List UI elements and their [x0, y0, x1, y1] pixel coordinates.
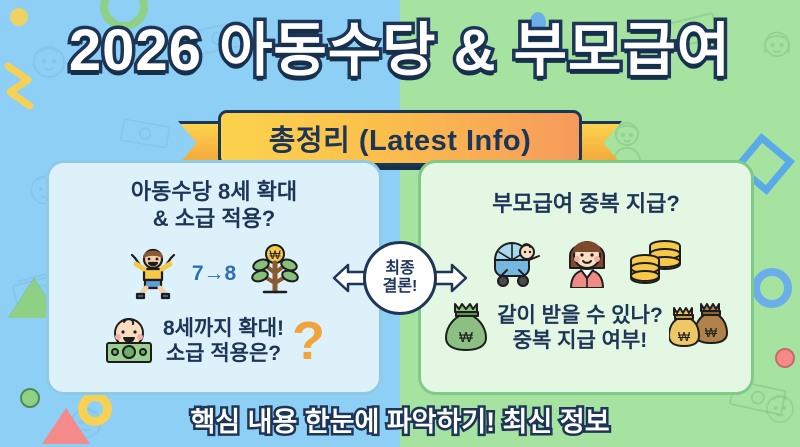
card-left-heading-line1: 아동수당 8세 확대 — [49, 179, 379, 206]
green-money-bag-icon: ₩ — [441, 300, 491, 357]
infographic-canvas: ₩ ₩ — [0, 0, 800, 447]
gold-money-bags-icon: ₩ ₩ — [669, 300, 731, 357]
ribbon-body: 총정리 (Latest Info) — [218, 110, 582, 166]
conclusion-line1: 최종 — [385, 260, 414, 278]
card-left-heading: 아동수당 8세 확대 & 소급 적용? — [49, 179, 379, 233]
svg-text:₩: ₩ — [459, 329, 474, 346]
svg-text:₩: ₩ — [270, 248, 282, 262]
jumping-boy-icon — [124, 242, 182, 305]
card-right-heading: 부모급여 중복 지급? — [421, 191, 751, 218]
baby-stroller-icon — [487, 232, 547, 293]
conclusion-line2: 결론! — [383, 278, 418, 296]
card-right-icon-row — [421, 232, 751, 294]
card-left-footer-text: 8세까지 확대! 소급 적용은? — [163, 316, 284, 367]
svg-text:₩: ₩ — [705, 325, 718, 340]
card-right-footer-text: 같이 받을 수 있나? 중복 지급 여부! — [497, 303, 663, 354]
page-title: 2026 아동수당 & 부모급여 — [0, 22, 800, 80]
card-left-footer-line2: 소급 적용은? — [163, 341, 284, 367]
footer-caption: 핵심 내용 한눈에 파악하기! 최신 정보 — [0, 400, 800, 439]
svg-text:₩: ₩ — [678, 329, 691, 344]
pink-dot-shape — [775, 348, 795, 368]
question-mark-icon: ? — [292, 320, 325, 363]
blue-ring-shape — [752, 268, 792, 308]
card-left-icon-row: 7→8 ₩ — [49, 243, 379, 305]
card-right-footer-line2: 중복 지급 여부! — [497, 328, 663, 354]
coin-stack-icon — [627, 232, 685, 293]
card-right-footer-line1: 같이 받을 수 있나? — [497, 303, 663, 329]
baby-with-banknote-icon — [103, 313, 155, 370]
card-left-heading-line2: & 소급 적용? — [49, 206, 379, 233]
age-change-label: 7→8 — [192, 262, 236, 286]
card-parent-benefit[interactable]: 부모급여 중복 지급? — [418, 160, 754, 395]
money-tree-icon: ₩ — [246, 242, 304, 305]
ribbon-label: 총정리 (Latest Info) — [269, 117, 532, 159]
card-left-footer-line1: 8세까지 확대! — [163, 316, 284, 342]
card-right-heading-line1: 부모급여 중복 지급? — [421, 191, 751, 218]
card-left-footer: 8세까지 확대! 소급 적용은? ? — [49, 313, 379, 370]
final-conclusion-badge[interactable]: 최종 결론! — [363, 241, 437, 315]
card-right-footer: ₩ 같이 받을 수 있나? 중복 지급 여부! ₩ — [421, 300, 751, 357]
mother-icon — [561, 232, 613, 293]
